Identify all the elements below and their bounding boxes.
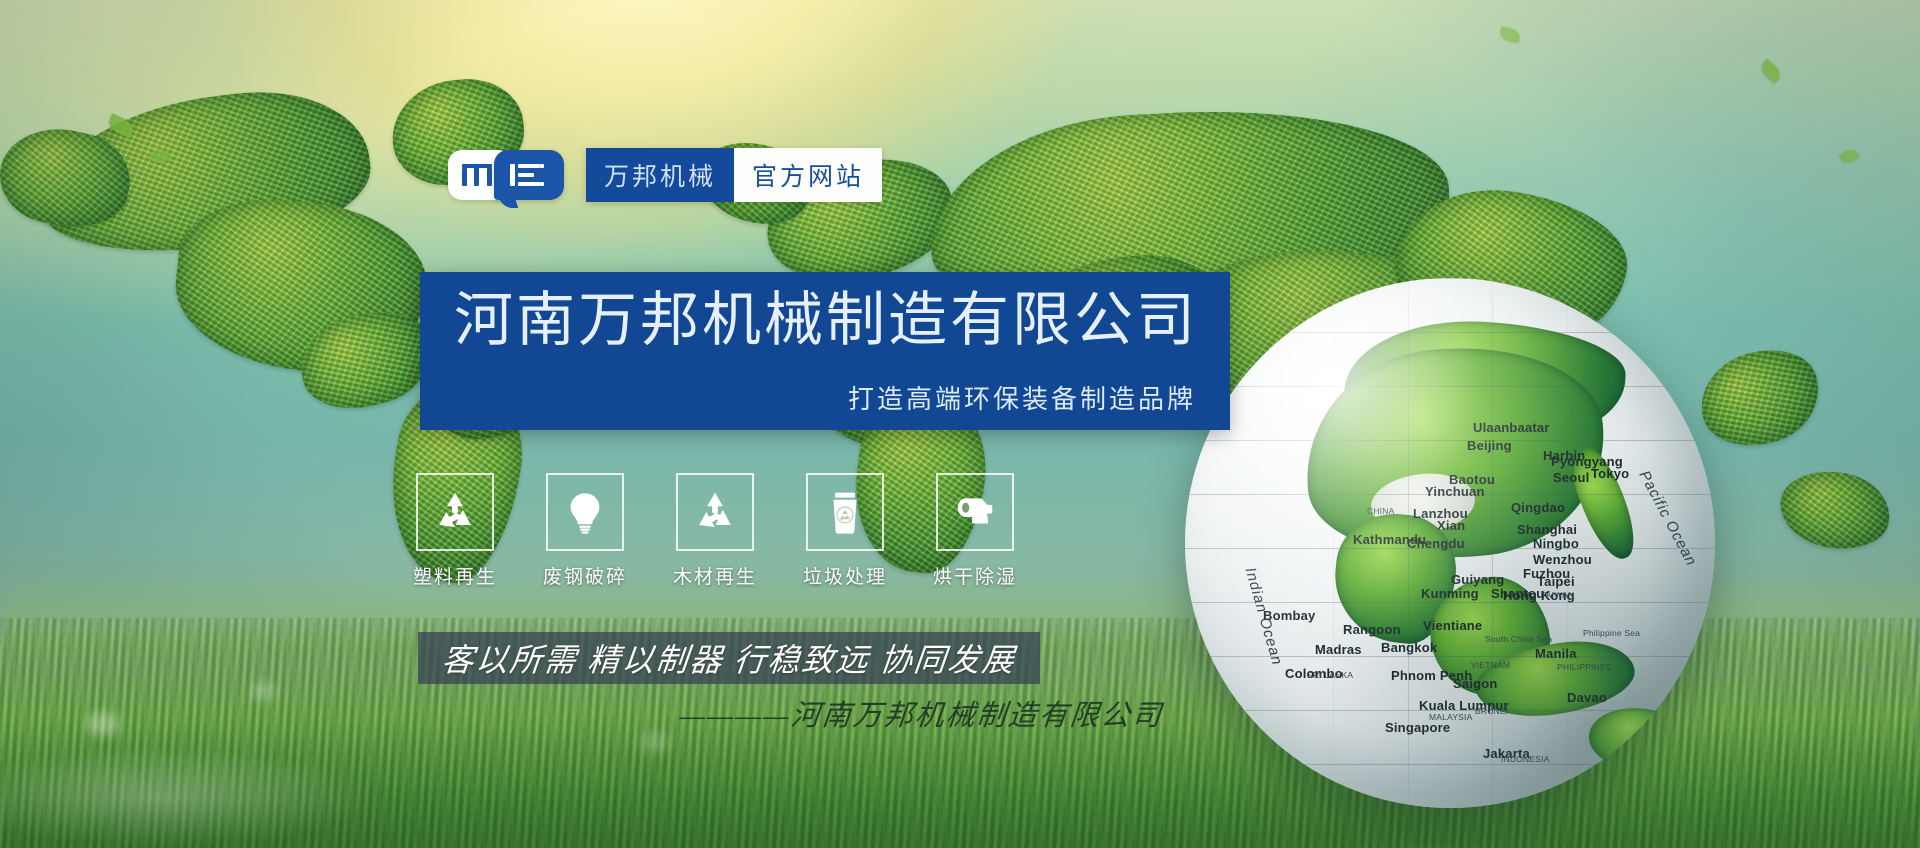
- feature-icon-box: [936, 473, 1014, 551]
- bokeh-highlight: [250, 682, 276, 700]
- hero-banner: Hong KongBeijingTokyoSeoulManilaBangkokP…: [0, 0, 1920, 848]
- e-list-glyph-icon: [510, 164, 544, 186]
- feature-label: 废钢破碎: [543, 562, 627, 589]
- lightbulb-icon: [562, 489, 608, 535]
- dryer-blower-icon: [952, 489, 998, 535]
- feature-icon-row: 塑料再生 废钢破碎: [416, 473, 1014, 589]
- w-glyph-icon: [462, 164, 492, 186]
- trash-bin-icon: [822, 489, 868, 535]
- feature-item-wood-recycling[interactable]: 木材再生: [676, 473, 754, 589]
- feature-item-plastic-recycling[interactable]: 塑料再生: [416, 473, 494, 589]
- feature-icon-box: [416, 473, 494, 551]
- feature-label: 塑料再生: [413, 562, 497, 589]
- feature-label: 木材再生: [673, 562, 757, 589]
- page-subtitle: 打造高端环保装备制造品牌: [848, 379, 1196, 416]
- feature-label: 烘干除湿: [933, 562, 1017, 589]
- brand-tab-bar: 万邦机械 官方网站: [586, 148, 882, 202]
- page-title: 河南万邦机械制造有限公司: [454, 290, 1198, 351]
- hero-title-panel: 河南万邦机械制造有限公司 打造高端环保装备制造品牌: [420, 272, 1230, 430]
- feature-label: 垃圾处理: [803, 562, 887, 589]
- feature-item-drying-dehumidifying[interactable]: 烘干除湿: [936, 473, 1014, 589]
- tab-official-site[interactable]: 官方网站: [734, 148, 882, 202]
- recycle-icon: [692, 489, 738, 535]
- slogan-text: 客以所需 精以制器 行稳致远 协同发展: [440, 635, 1019, 681]
- feature-icon-box: [676, 473, 754, 551]
- brand-header: 万邦机械 官方网站: [448, 144, 882, 206]
- bokeh-highlight: [640, 732, 670, 752]
- recycle-icon: [432, 489, 478, 535]
- slogan-banner: 客以所需 精以制器 行稳致远 协同发展: [418, 632, 1040, 684]
- feature-item-scrap-steel-crushing[interactable]: 废钢破碎: [546, 473, 624, 589]
- feature-icon-box: [806, 473, 884, 551]
- slogan-attribution: ————河南万邦机械制造有限公司: [678, 692, 1166, 734]
- feature-item-waste-treatment[interactable]: 垃圾处理: [806, 473, 884, 589]
- web-chat-bubbles-logo[interactable]: [448, 150, 564, 200]
- feature-icon-box: [546, 473, 624, 551]
- tab-brand-name[interactable]: 万邦机械: [586, 148, 734, 202]
- bokeh-highlight: [86, 712, 120, 736]
- globe-graphic: Hong KongBeijingTokyoSeoulManilaBangkokP…: [1185, 278, 1715, 808]
